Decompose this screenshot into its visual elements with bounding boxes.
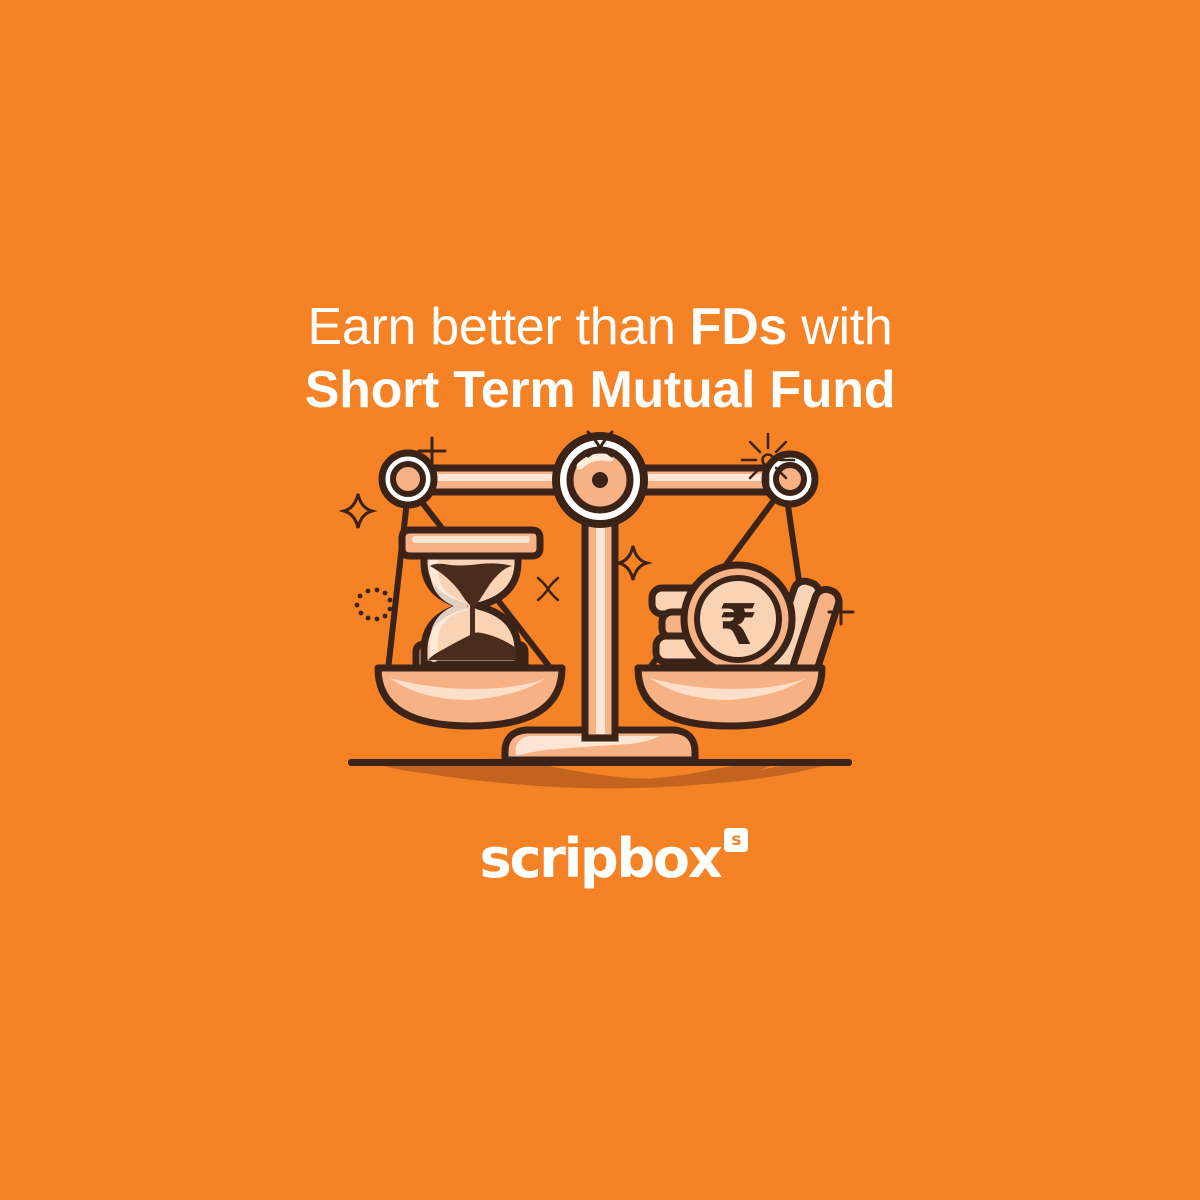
- four-point-star-icon: [344, 494, 372, 528]
- brand-logo[interactable]: scripbox s: [0, 832, 1200, 886]
- promo-banner: Earn better than FDs with Short Term Mut…: [0, 0, 1200, 1200]
- headline-line-2: Short Term Mutual Fund: [0, 361, 1200, 419]
- rupee-coin-stack: ₹: [652, 565, 842, 681]
- logo-inner: scripbox s: [480, 832, 721, 886]
- sunburst-star-icon: [742, 434, 794, 486]
- right-pan: [638, 668, 822, 726]
- rupee-coin: ₹: [684, 565, 792, 673]
- x-spark-icon-mid: [538, 578, 558, 600]
- page-title: Earn better than FDs with Short Term Mut…: [0, 298, 1200, 419]
- headline-line-1: Earn better than FDs with: [0, 298, 1200, 356]
- headline-text-part1: Earn better than: [307, 298, 689, 356]
- hourglass-icon: [402, 530, 540, 672]
- four-point-star-icon-right: [619, 546, 647, 580]
- headline-text-part2: with: [787, 298, 892, 356]
- headline-emphasis-fds: FDs: [690, 298, 787, 356]
- scale-post: [585, 506, 615, 738]
- logo-wordmark: scripbox: [480, 827, 721, 890]
- logo-superscript-badge: s: [724, 828, 748, 852]
- left-beam-knob: [382, 453, 434, 505]
- rupee-symbol: ₹: [719, 593, 758, 658]
- left-pan: [378, 668, 562, 726]
- dotted-circle-icon: [355, 588, 393, 622]
- balance-scale-illustration: ₹: [330, 420, 870, 820]
